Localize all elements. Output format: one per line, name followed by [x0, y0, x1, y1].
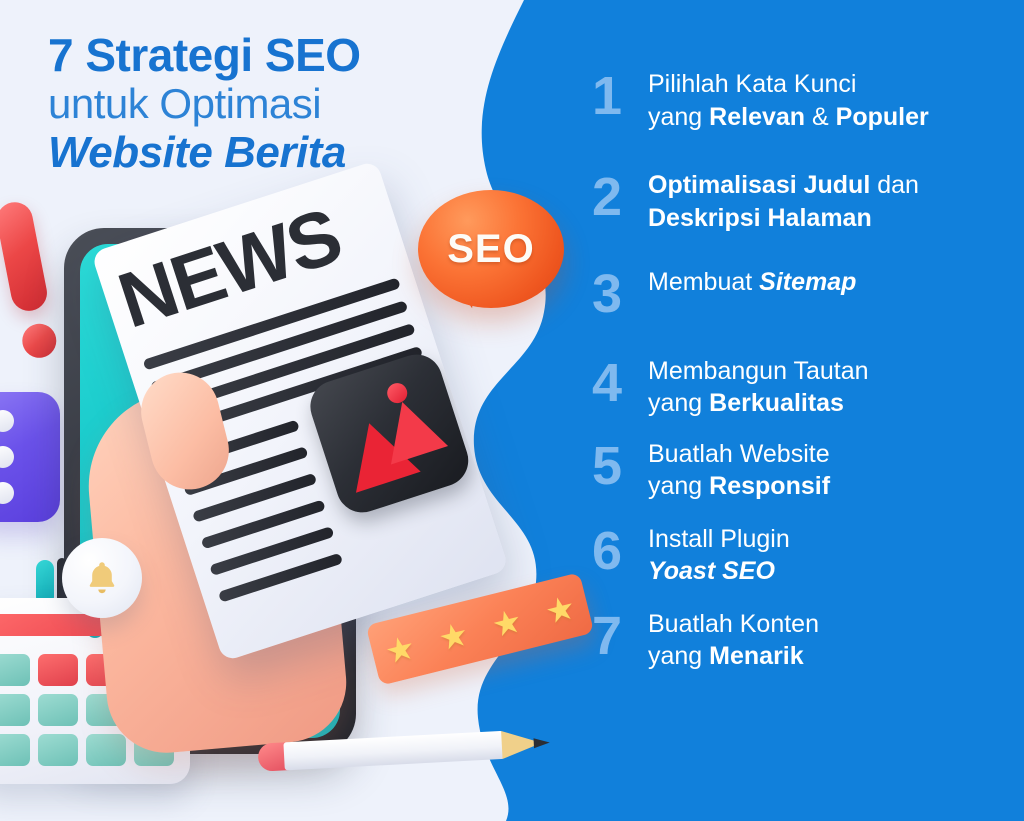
page-title: 7 Strategi SEO untuk Optimasi Website Be… [48, 32, 478, 175]
list-item-text: Optimalisasi Judul danDeskripsi Halaman [648, 163, 1012, 234]
newspaper-headline: NEWS [110, 196, 349, 340]
list-item-line: yang Menarik [648, 640, 1012, 673]
text-bold: Optimalisasi Judul [648, 171, 870, 199]
list-item-text: Membangun Tautanyang Berkualitas [648, 349, 1012, 420]
text-regular: Membangun Tautan [648, 357, 869, 385]
infographic-canvas: NEWS ★ ★ ★ ★ [0, 0, 1024, 821]
list-item: 1Pilihlah Kata Kunciyang Relevan & Popul… [592, 62, 1012, 133]
text-regular: yang [648, 642, 709, 670]
list-item-line: Yoast SEO [648, 555, 1012, 588]
text-regular: yang [648, 389, 709, 417]
list-item-line: Deskripsi Halaman [648, 202, 1012, 235]
list-item: 4Membangun Tautanyang Berkualitas [592, 349, 1012, 420]
text-bold: Berkualitas [709, 389, 844, 417]
text-bold: Populer [836, 103, 929, 131]
title-line-1: 7 Strategi SEO [48, 32, 478, 83]
text-bold-italic: Yoast SEO [648, 557, 775, 585]
seo-badge-label: SEO [418, 190, 564, 308]
list-item: 2Optimalisasi Judul danDeskripsi Halaman [592, 163, 1012, 234]
image-play-icon [304, 348, 475, 519]
text-bold-italic: Sitemap [759, 268, 856, 296]
bell-icon [62, 538, 142, 618]
star-icon: ★ [382, 629, 419, 668]
list-item-number: 7 [592, 602, 648, 663]
list-item-number: 2 [592, 163, 648, 224]
list-item-text: Install PluginYoast SEO [648, 517, 1012, 588]
list-item-line: Buatlah Website [648, 438, 1012, 471]
text-bold: Relevan [709, 103, 805, 131]
text-regular: yang [648, 103, 709, 131]
list-item-line: Optimalisasi Judul dan [648, 169, 1012, 202]
star-icon: ★ [488, 603, 525, 642]
list-item-line: Buatlah Konten [648, 608, 1012, 641]
star-icon: ★ [435, 616, 472, 655]
list-item: 5Buatlah Websiteyang Responsif [592, 432, 1012, 503]
list-item-text: Membuat Sitemap [648, 260, 1012, 299]
text-regular: dan [870, 171, 919, 199]
list-item-line: Membangun Tautan [648, 355, 1012, 388]
list-item-line: yang Berkualitas [648, 387, 1012, 420]
text-bold: Deskripsi Halaman [648, 204, 872, 232]
strategy-list: 1Pilihlah Kata Kunciyang Relevan & Popul… [592, 62, 1012, 685]
text-bold: Responsif [709, 472, 830, 500]
list-item-line: Install Plugin [648, 523, 1012, 556]
list-item-number: 3 [592, 260, 648, 321]
text-regular: Install Plugin [648, 525, 790, 553]
list-item-line: Pilihlah Kata Kunci [648, 68, 1012, 101]
star-icon: ★ [542, 589, 579, 628]
list-item-text: Pilihlah Kata Kunciyang Relevan & Popule… [648, 62, 1012, 133]
title-line-2: untuk Optimasi [48, 83, 478, 131]
list-item-number: 1 [592, 62, 648, 123]
list-dots-icon [0, 392, 60, 522]
list-item-text: Buatlah Kontenyang Menarik [648, 602, 1012, 673]
list-item-line: yang Responsif [648, 470, 1012, 503]
seo-speech-bubble: SEO [418, 190, 564, 308]
list-item-line: Membuat Sitemap [648, 266, 1012, 299]
bell-glyph [81, 557, 123, 599]
text-regular: & [805, 103, 836, 131]
list-item-number: 6 [592, 517, 648, 578]
text-bold: Menarik [709, 642, 803, 670]
list-item: 6Install PluginYoast SEO [592, 517, 1012, 588]
text-regular: Pilihlah Kata Kunci [648, 70, 856, 98]
list-item-text: Buatlah Websiteyang Responsif [648, 432, 1012, 503]
title-line-3: Website Berita [48, 131, 478, 175]
list-item: 3Membuat Sitemap [592, 260, 1012, 321]
text-regular: Buatlah Konten [648, 610, 819, 638]
list-item-number: 4 [592, 349, 648, 410]
text-regular: Membuat [648, 268, 759, 296]
text-regular: Buatlah Website [648, 440, 830, 468]
list-item: 7Buatlah Kontenyang Menarik [592, 602, 1012, 673]
list-item-line: yang Relevan & Populer [648, 101, 1012, 134]
list-item-number: 5 [592, 432, 648, 493]
text-regular: yang [648, 472, 709, 500]
